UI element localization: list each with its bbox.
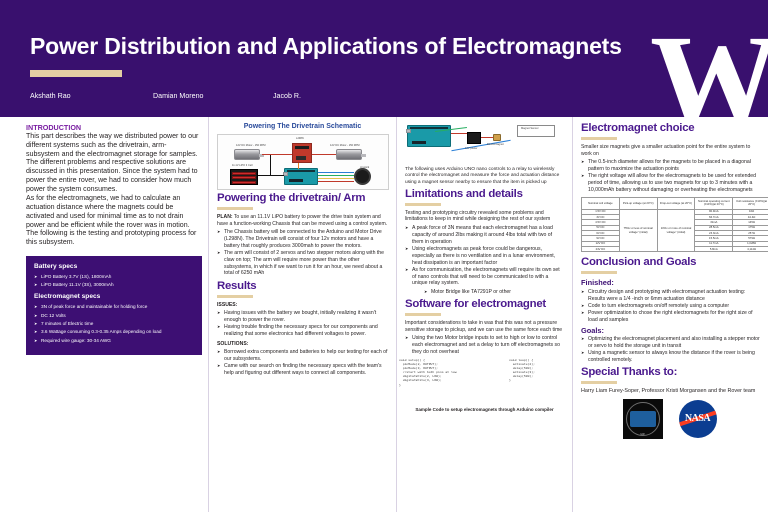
wire bbox=[318, 178, 354, 179]
list-item: 3.6 Wattage consuming 0.3-0.35 Amps depe… bbox=[34, 329, 194, 335]
software-list: Using the two Motor bridge inputs to set… bbox=[405, 335, 564, 355]
arduino-board-icon bbox=[284, 168, 318, 185]
author-name: Jacob R. bbox=[273, 92, 301, 101]
diagram-label-relay: 12V power bbox=[465, 147, 477, 150]
electromagnet-choice-heading: Electromagnet choice bbox=[581, 123, 760, 135]
list-item: As for communication, the electromagnets… bbox=[405, 267, 564, 287]
cell-voltage: 24V DC bbox=[582, 247, 620, 252]
list-item: 3N of peak force and maintainable for ho… bbox=[34, 304, 194, 310]
list-item: The arm will consist of 2 servos and two… bbox=[217, 250, 388, 277]
motor-driver-icon bbox=[292, 143, 312, 163]
limitations-heading: Limitations and details bbox=[405, 189, 564, 201]
plan-text: To use an 11.1V LiPO battery to power th… bbox=[217, 214, 387, 227]
list-item: Having trouble finding the necessary spe… bbox=[217, 324, 388, 338]
page-title: Power Distribution and Applications of E… bbox=[30, 32, 622, 61]
code-loop: void loop() { activate(2); delay(500); a… bbox=[509, 358, 535, 383]
poster-columns: INTRODUCTION This part describes the way… bbox=[0, 117, 768, 512]
limitations-intro: Testing and prototyping circuitry reveal… bbox=[405, 210, 564, 223]
list-item: The Chassis battery will be connected to… bbox=[217, 229, 388, 249]
list-item: DC 12 Volts bbox=[34, 313, 194, 319]
title-accent-rule bbox=[30, 70, 122, 77]
cell-resistance: 4,114Ω bbox=[733, 247, 768, 252]
poster-root: Power Distribution and Applications of E… bbox=[0, 0, 768, 512]
finished-label: Finished: bbox=[581, 278, 760, 287]
battery-specs-heading: Battery specs bbox=[34, 263, 194, 271]
col-header-operating-current: Nominal operating current (±10%)(at 20°C… bbox=[695, 197, 733, 209]
introduction-heading: INTRODUCTION bbox=[26, 123, 200, 132]
code-setup: void setup() { pinMode(2, OUTPUT); pinMo… bbox=[399, 358, 457, 387]
section-accent-rule bbox=[217, 295, 253, 298]
conclusion-heading: Conclusion and Goals bbox=[581, 257, 760, 269]
code-caption: Sample Code to setup electromagnets thro… bbox=[405, 407, 564, 413]
list-item: Required wire gauge: 30-34 AWG bbox=[34, 338, 194, 344]
electromagnet-diagram-figure: 12V power Electromagnet Magnet Sensor bbox=[405, 123, 565, 165]
electromagnet-figure-caption: The following uses Arduino UNO nano cont… bbox=[405, 167, 564, 186]
cell-current: 5.8mA bbox=[695, 247, 733, 252]
plan-paragraph: PLAN: To use an 11.1V LiPO battery to po… bbox=[217, 214, 388, 227]
list-item: Came with our search on finding the nece… bbox=[217, 363, 388, 377]
solutions-label: SOLUTIONS: bbox=[217, 341, 388, 348]
wire bbox=[258, 175, 284, 176]
finished-list: Circuitry design and prototyping with el… bbox=[581, 289, 760, 324]
col-header-nominal-voltage: Nominal coil voltage bbox=[582, 197, 620, 209]
list-item: LiPO Battery 11.1V (3S), 3000mAh bbox=[34, 282, 194, 288]
wire bbox=[451, 133, 467, 134]
table-body: 1.5V DC 75%v or less of nominal voltage"… bbox=[582, 209, 768, 252]
uw-seal-logo-icon: UW bbox=[623, 399, 663, 439]
schematic-label-motor-right: 12V DC Motor - 150 RPM bbox=[330, 144, 360, 147]
diagram-label-electromagnet: Electromagnet bbox=[487, 143, 504, 146]
battery-specs-list: LiPO Battery 3.7V (1S), 1800mAh LiPO Bat… bbox=[34, 274, 194, 289]
list-item: A peak force of 3N means that each elect… bbox=[405, 225, 564, 245]
plan-list: The Chassis battery will be connected to… bbox=[217, 229, 388, 277]
list-item: Borrowed extra components and batteries … bbox=[217, 349, 388, 363]
goals-list: Optimizing the electromagnet placement a… bbox=[581, 336, 760, 364]
drivetrain-heading: Powering the drivetrain/ Arm bbox=[217, 193, 388, 205]
arduino-board-icon bbox=[407, 125, 451, 147]
wire bbox=[270, 155, 271, 175]
author-list: Akshath Rao Damian Moreno Jacob R. bbox=[30, 92, 510, 106]
limitations-list: A peak force of 3N means that each elect… bbox=[405, 225, 564, 287]
list-item: Having issues with the battery we bought… bbox=[217, 310, 388, 324]
list-item: Circuitry design and prototyping with el… bbox=[581, 289, 760, 303]
drivetrain-schematic-figure: L298N 12V DC Motor - 150 RPM 12V DC Moto… bbox=[217, 134, 389, 190]
issues-label: ISSUES: bbox=[217, 302, 388, 309]
section-accent-rule bbox=[405, 313, 441, 316]
section-accent-rule bbox=[405, 203, 441, 206]
electromagnet-choice-list: The 0.5-inch diameter allows for the mag… bbox=[581, 159, 760, 193]
introduction-paragraph-2: As for the electromagnets, we had to cal… bbox=[26, 195, 200, 247]
specs-box: Battery specs LiPO Battery 3.7V (1S), 18… bbox=[26, 256, 202, 355]
logo-row: UW NASA bbox=[581, 399, 760, 439]
issues-list: Having issues with the battery we bought… bbox=[217, 310, 388, 338]
uw-seal-caption: UW bbox=[641, 433, 645, 436]
relay-spec-table: Nominal coil voltage Pick-up voltage (at… bbox=[581, 197, 768, 253]
wire bbox=[318, 181, 354, 182]
list-item: Using the two Motor bridge inputs to set… bbox=[405, 335, 564, 355]
dc-motor-icon bbox=[336, 149, 362, 160]
cell-pickup-merged: 75%v or less of nominal voltage" (initia… bbox=[619, 209, 657, 252]
dc-motor-icon bbox=[234, 149, 260, 160]
wire bbox=[298, 163, 299, 169]
wire bbox=[312, 154, 336, 155]
battery-pack-icon bbox=[230, 169, 258, 185]
schematic-label-battery: 11.1V LiPO 3 Cell bbox=[232, 164, 252, 167]
diagram-label-sensor: Magnet Sensor bbox=[521, 127, 539, 130]
section-accent-rule bbox=[581, 137, 617, 140]
introduction-paragraph-1: This part describes the way we distribut… bbox=[26, 133, 200, 194]
list-item: The right voltage will allow for the ele… bbox=[581, 173, 760, 193]
wire bbox=[262, 154, 292, 155]
wire bbox=[481, 137, 493, 138]
col-header-pickup-voltage: Pick-up voltage (at 20°C) bbox=[619, 197, 657, 209]
list-item: Using electromagnets as peak force could… bbox=[405, 246, 564, 266]
software-heading: Software for electromagnet bbox=[405, 299, 564, 311]
cell-dropout-merged: 10%v or more of nominal voltage" (initia… bbox=[657, 209, 695, 252]
electromagnet-coil-icon bbox=[493, 134, 501, 141]
code-sample-block: void setup() { pinMode(2, OUTPUT); pinMo… bbox=[405, 358, 564, 406]
wire bbox=[318, 175, 354, 176]
relay-module-icon bbox=[467, 132, 481, 144]
wire bbox=[318, 172, 354, 173]
column-drivetrain: Powering The Drivetrain Schematic L298N … bbox=[208, 117, 396, 512]
list-item: The 0.5-inch diameter allows for the mag… bbox=[581, 159, 760, 173]
joystick-icon bbox=[354, 168, 371, 185]
poster-header: Power Distribution and Applications of E… bbox=[0, 0, 768, 117]
col-header-coil-resistance: Coil resistance (±10%)(at 20°C) bbox=[733, 197, 768, 209]
schematic-label-driver: L298N bbox=[296, 137, 304, 140]
schematic-figure-caption: Powering The Drivetrain Schematic bbox=[217, 123, 388, 132]
solutions-list: Borrowed extra components and batteries … bbox=[217, 349, 388, 377]
results-heading: Results bbox=[217, 281, 388, 293]
author-name: Akshath Rao bbox=[30, 92, 71, 101]
electromagnet-choice-intro: Smaller size magnets give a smaller actu… bbox=[581, 144, 760, 157]
list-item: Motor Bridge like TA7291P or other bbox=[405, 289, 564, 296]
list-item: Power optimization to chose the right el… bbox=[581, 310, 760, 324]
column-limitations: 12V power Electromagnet Magnet Sensor Th… bbox=[396, 117, 572, 512]
section-accent-rule bbox=[581, 381, 617, 384]
list-item: 7 minutes of Electric time bbox=[34, 321, 194, 327]
section-accent-rule bbox=[217, 207, 253, 210]
author-name: Damian Moreno bbox=[153, 92, 203, 101]
goals-label: Goals: bbox=[581, 326, 760, 335]
list-item: Using a magnetic sensor to always know t… bbox=[581, 350, 760, 364]
special-thanks-heading: Special Thanks to: bbox=[581, 367, 760, 379]
software-intro: Important considerations to take in was … bbox=[405, 320, 564, 333]
nasa-logo-icon: NASA bbox=[677, 399, 719, 439]
list-item: LiPO Battery 3.7V (1S), 1800mAh bbox=[34, 274, 194, 280]
special-thanks-text: Harry Liam Furey-Soper, Professor Kristi… bbox=[581, 388, 760, 395]
schematic-label-motor-left: 12V DC Motor - 150 RPM bbox=[236, 144, 266, 147]
col-header-dropout-voltage: Drop-out voltage (at 20°C) bbox=[657, 197, 695, 209]
electromagnet-specs-heading: Electromagnet specs bbox=[34, 293, 194, 301]
table-header-row: Nominal coil voltage Pick-up voltage (at… bbox=[582, 197, 768, 209]
section-accent-rule bbox=[581, 271, 617, 274]
list-item: Optimizing the electromagnet placement a… bbox=[581, 336, 760, 350]
nasa-logo-text: NASA bbox=[679, 413, 717, 426]
column-electromagnet-choice: Electromagnet choice Smaller size magnet… bbox=[572, 117, 768, 512]
column-introduction: INTRODUCTION This part describes the way… bbox=[18, 117, 208, 512]
electromagnet-specs-list: 3N of peak force and maintainable for ho… bbox=[34, 304, 194, 344]
limitations-sublist: Motor Bridge like TA7291P or other bbox=[405, 289, 564, 296]
list-item: Code to turn electromagnets on/off remot… bbox=[581, 303, 760, 310]
plan-label: PLAN: bbox=[217, 214, 233, 220]
